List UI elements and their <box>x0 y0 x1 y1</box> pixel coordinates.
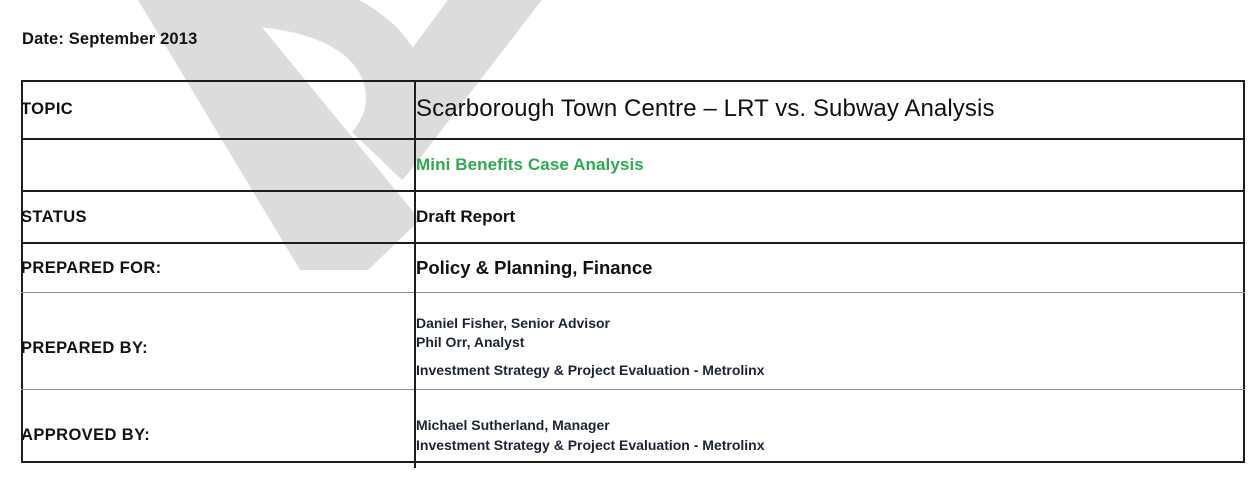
table-row: PREPARED BY: Daniel Fisher, Senior Advis… <box>21 293 1245 390</box>
row-value-approved-by: Michael Sutherland, Manager Investment S… <box>415 390 1245 469</box>
row-value-status: Draft Report <box>415 191 1245 243</box>
row-value-topic: Scarborough Town Centre – LRT vs. Subway… <box>415 80 1245 139</box>
table-row: STATUS Draft Report <box>21 191 1245 243</box>
approved-by-list: Michael Sutherland, Manager Investment S… <box>416 404 1245 455</box>
table-row: Mini Benefits Case Analysis <box>21 139 1245 191</box>
topic-title: Scarborough Town Centre – LRT vs. Subway… <box>416 95 1245 123</box>
approved-by-organization: Investment Strategy & Project Evaluation… <box>416 435 1245 455</box>
row-label-approved-by: APPROVED BY: <box>21 390 415 469</box>
prepared-by-organization: Investment Strategy & Project Evaluation… <box>416 352 1245 380</box>
approved-by-label: APPROVED BY: <box>21 413 414 445</box>
prepared-by-person-1: Daniel Fisher, Senior Advisor <box>416 314 1245 333</box>
table-row: APPROVED BY: Michael Sutherland, Manager… <box>21 390 1245 469</box>
row-label-prepared-by: PREPARED BY: <box>21 293 415 390</box>
table-row: PREPARED FOR: Policy & Planning, Finance <box>21 243 1245 293</box>
prepared-by-list: Daniel Fisher, Senior Advisor Phil Orr, … <box>416 302 1245 380</box>
approved-by-person: Michael Sutherland, Manager <box>416 415 1245 435</box>
prepared-by-person-2: Phil Orr, Analyst <box>416 333 1245 352</box>
row-value-subtitle: Mini Benefits Case Analysis <box>415 139 1245 191</box>
prepared-for-text: Policy & Planning, Finance <box>416 257 1245 279</box>
row-label-prepared-for: PREPARED FOR: <box>21 243 415 293</box>
table-row: TOPIC Scarborough Town Centre – LRT vs. … <box>21 80 1245 139</box>
prepared-by-label: PREPARED BY: <box>21 325 414 358</box>
document-date: Date: September 2013 <box>22 30 197 49</box>
document-page: Date: September 2013 TOPIC Scarborough T… <box>0 0 1258 477</box>
subtitle-text: Mini Benefits Case Analysis <box>416 155 1245 175</box>
row-label-empty <box>21 139 415 191</box>
status-text: Draft Report <box>416 207 1245 227</box>
document-info-table: TOPIC Scarborough Town Centre – LRT vs. … <box>21 80 1245 468</box>
row-value-prepared-by: Daniel Fisher, Senior Advisor Phil Orr, … <box>415 293 1245 390</box>
row-label-topic: TOPIC <box>21 80 415 139</box>
row-value-prepared-for: Policy & Planning, Finance <box>415 243 1245 293</box>
row-label-status: STATUS <box>21 191 415 243</box>
